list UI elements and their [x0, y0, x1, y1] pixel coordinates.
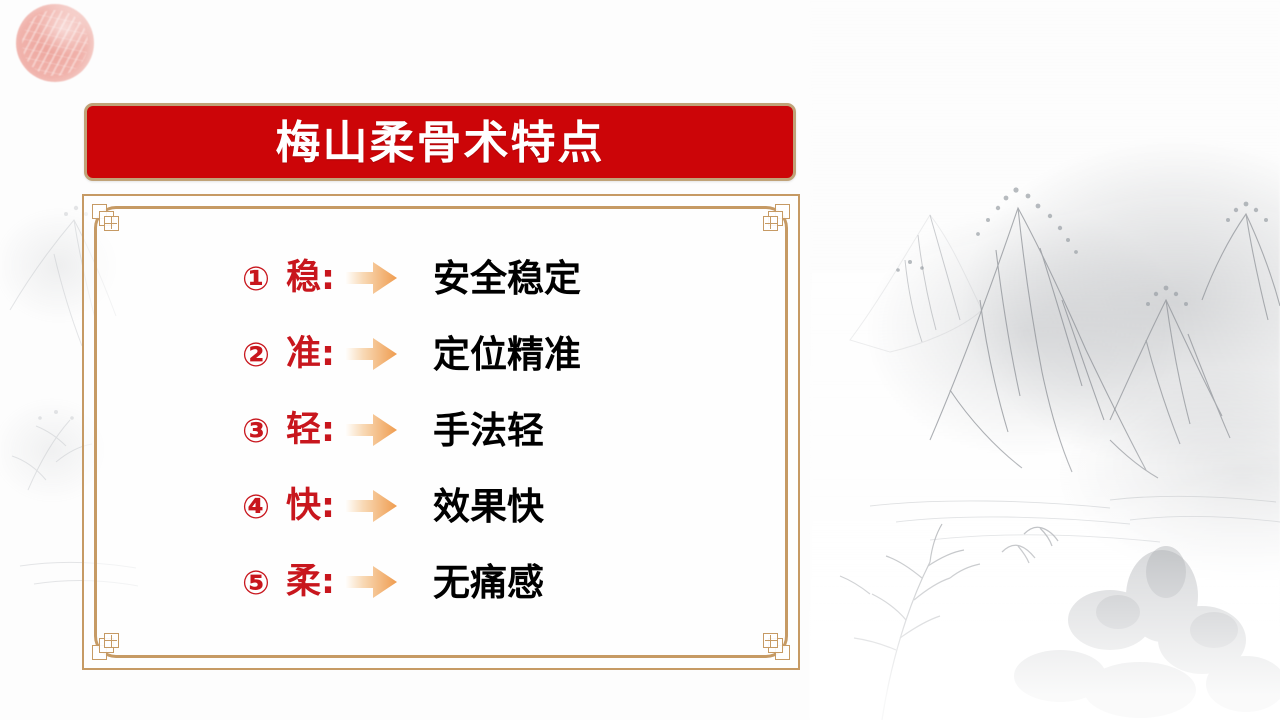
arrow-right-icon — [343, 489, 399, 523]
list-item: ④ 快: 效果快 — [242, 468, 796, 544]
list-item-value: 手法轻 — [433, 412, 544, 449]
mountain-landscape-icon — [810, 0, 1280, 720]
arrow-right-icon — [343, 337, 399, 371]
slide-canvas: 梅山柔骨术特点 ① 稳: 安全稳定 — [0, 0, 1280, 720]
list-item: ⑤ 柔: 无痛感 — [242, 544, 796, 620]
red-brush-seal-icon — [16, 4, 94, 82]
arrow-right-icon — [343, 261, 399, 295]
list-item: ① 稳: 安全稳定 — [242, 240, 796, 316]
ink-wash-right — [810, 0, 1280, 720]
arrow-right-icon — [343, 413, 399, 447]
list-item-number: ④ — [242, 490, 286, 523]
list-item-number: ③ — [242, 414, 286, 447]
list-item-keyword: 柔: — [286, 565, 335, 600]
list-item-number: ① — [242, 262, 286, 295]
list-item-number: ⑤ — [242, 566, 286, 599]
list-item-value: 无痛感 — [433, 564, 544, 601]
list-item-keyword: 准: — [286, 337, 335, 372]
list-item-keyword: 轻: — [286, 413, 335, 448]
list-item-keyword: 稳: — [286, 261, 335, 296]
arrow-right-icon — [343, 565, 399, 599]
list-item-value: 效果快 — [433, 488, 544, 525]
list-item-keyword: 快: — [286, 489, 335, 524]
list-item-value: 安全稳定 — [433, 260, 581, 297]
list-item-number: ② — [242, 338, 286, 371]
mist-overlay — [810, 420, 1280, 720]
title-banner: 梅山柔骨术特点 — [84, 103, 796, 181]
list-item: ② 准: 定位精准 — [242, 316, 796, 392]
list-item-value: 定位精准 — [433, 336, 581, 373]
page-title: 梅山柔骨术特点 — [275, 120, 604, 165]
list-item: ③ 轻: 手法轻 — [242, 392, 796, 468]
feature-list: ① 稳: 安全稳定 ② 准: 定位精准 ③ 轻: — [82, 194, 796, 666]
